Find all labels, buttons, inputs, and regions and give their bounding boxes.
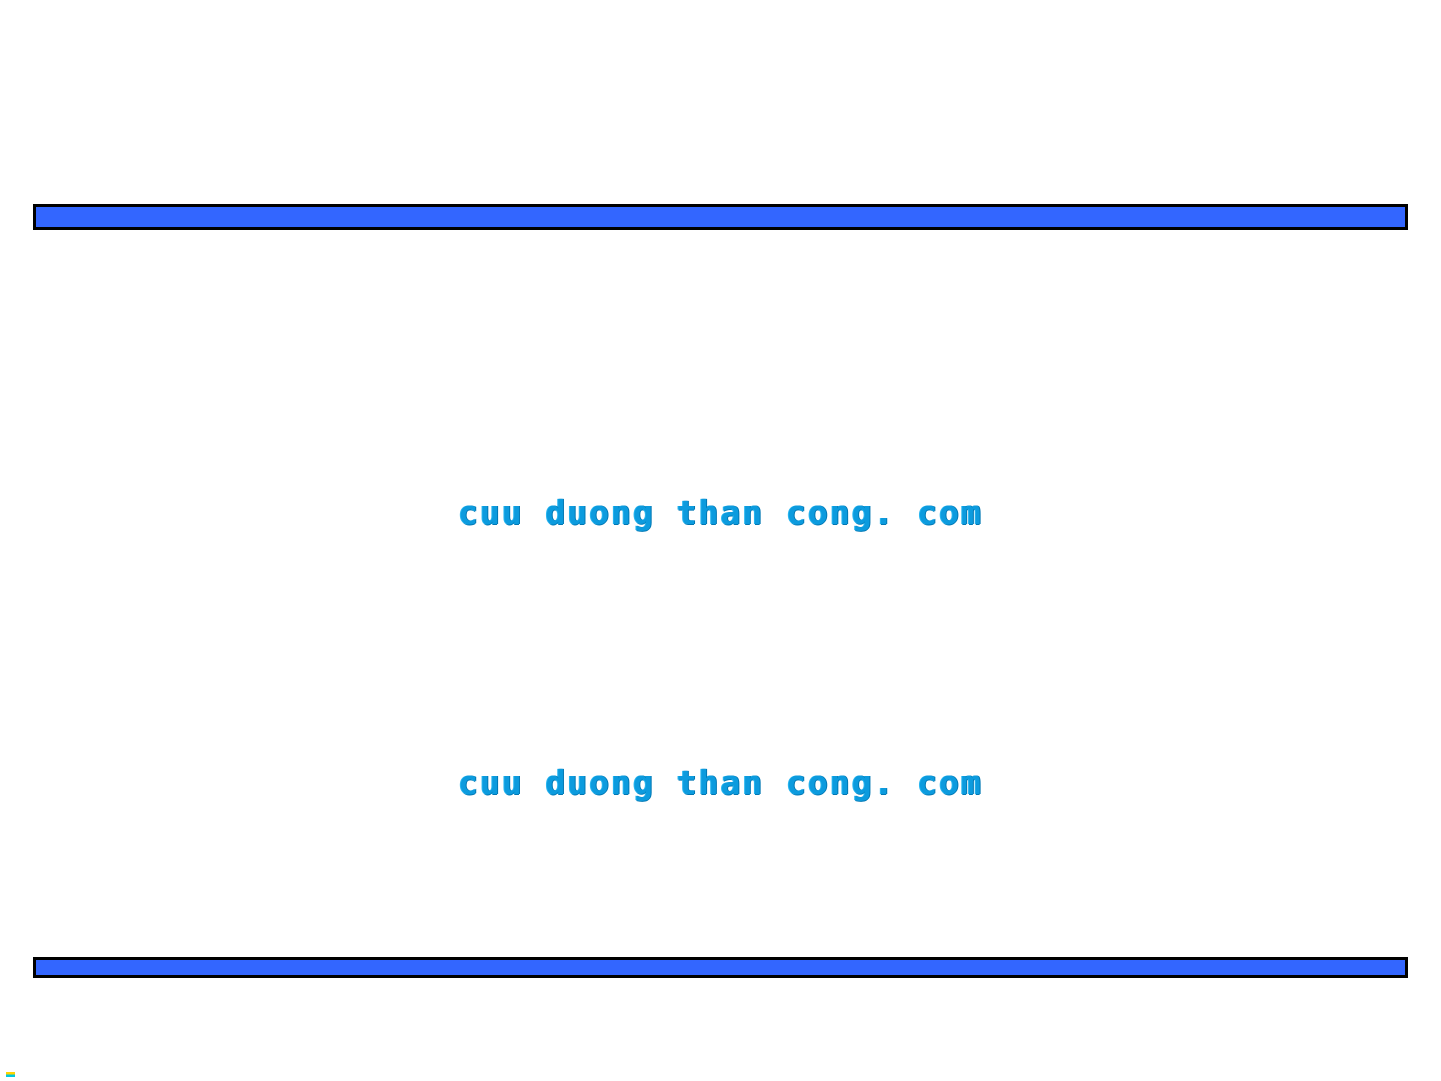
slide-canvas: cuu duong than cong. com cuu duong than … <box>0 0 1441 1081</box>
corner-artifact-mark <box>6 1072 15 1077</box>
watermark-text-top: cuu duong than cong. com <box>0 496 1441 529</box>
watermark-text-bottom: cuu duong than cong. com <box>0 766 1441 799</box>
horizontal-rule-bottom <box>33 957 1408 978</box>
horizontal-rule-top <box>33 204 1408 230</box>
